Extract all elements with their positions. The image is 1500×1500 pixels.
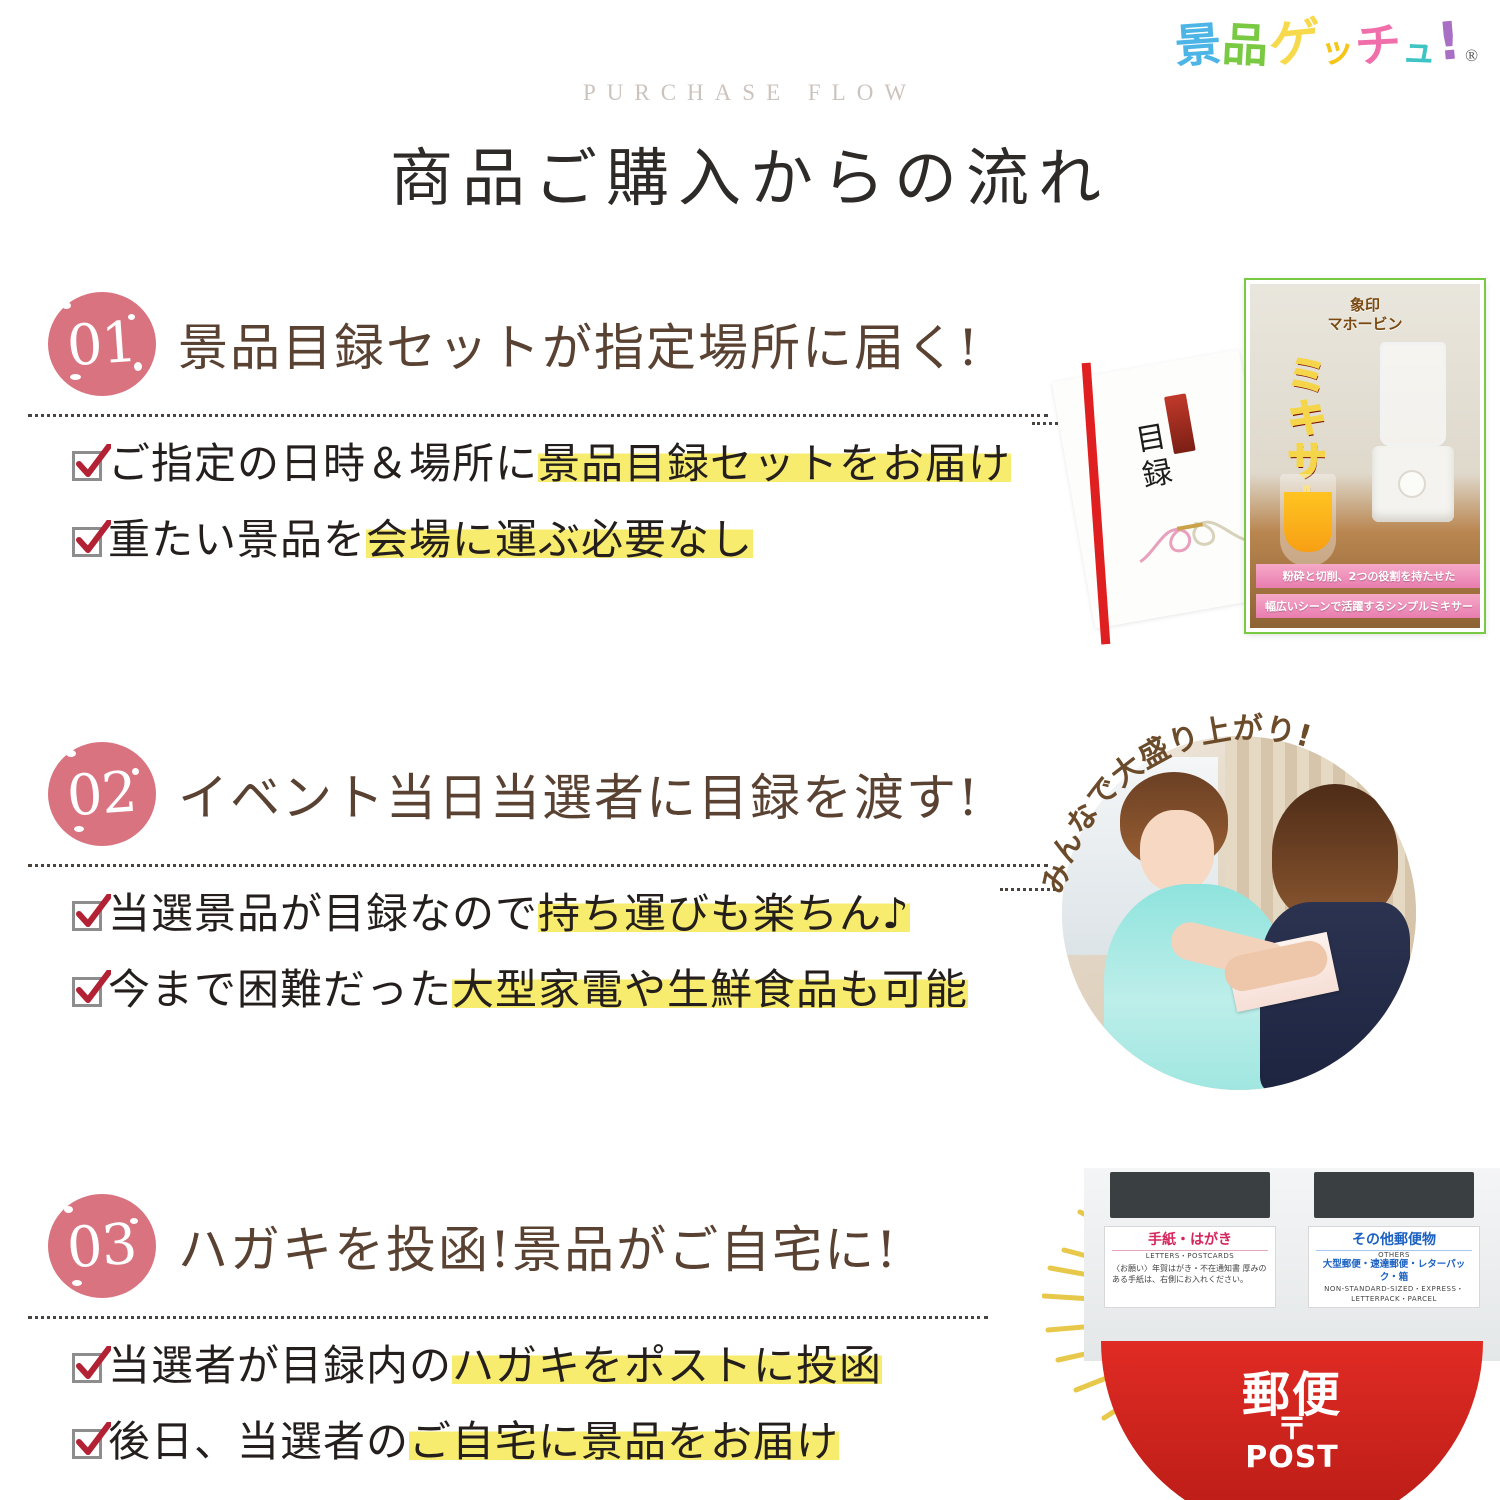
- bullet-highlight: ハガキをポストに投函: [452, 1341, 882, 1390]
- plate-right-en: OTHERS: [1316, 1251, 1472, 1259]
- prize-poster: 象印 マホービン ミキサー 粉砕と切削、2つの役割を持たせた 幅広いシーンで活躍…: [1246, 280, 1484, 632]
- logo-char-ge: ゲ: [1269, 15, 1320, 71]
- step-01-title: 景品目録セットが指定場所に届く!: [178, 308, 980, 380]
- arc-caption-text: みんなで大盛り上がり!: [1042, 711, 1316, 897]
- poster-brand-line2: マホービン: [1327, 315, 1402, 333]
- bullet-highlight: 会場に運ぶ必要なし: [366, 515, 753, 564]
- bullet-text: 当選者が目録内のハガキをポストに投函: [108, 1341, 882, 1391]
- checkbox-checked-icon: [70, 1349, 108, 1387]
- checkbox-checked-icon: [70, 523, 108, 561]
- brand-logo[interactable]: 景 品 ゲ ッ チ ュ ! ®: [1175, 16, 1478, 68]
- bullet-plain: 今まで困難だった: [108, 965, 452, 1014]
- logo-char-kei: 景: [1174, 20, 1223, 69]
- poster-ribbon-1: 粉砕と切削、2つの役割を持たせた: [1256, 564, 1482, 588]
- bullet-highlight: ご自宅に景品をお届け: [409, 1417, 839, 1466]
- plate-right-note: 大型郵便・速達郵便・レターパック・箱: [1316, 1259, 1472, 1284]
- logo-char-yu: ュ: [1402, 33, 1437, 68]
- checkbox-checked-icon: [70, 897, 108, 935]
- postbox-plate-letters: 手紙・はがき LETTERS・POSTCARDS 〈お願い〉年賀はがき・不在通知…: [1104, 1226, 1276, 1308]
- bullet-plain: 重たい景品を: [108, 515, 366, 564]
- bullet-highlight: 大型家電や生鮮食品も可能: [452, 965, 968, 1014]
- registered-trademark-icon: ®: [1465, 47, 1478, 64]
- bullet-highlight: 景品目録セットをお届け: [538, 439, 1011, 488]
- checkbox-checked-icon: [70, 1425, 108, 1463]
- bullet-highlight: 持ち運びも楽ちん♪: [538, 889, 910, 938]
- checkbox-checked-icon: [70, 973, 108, 1011]
- step-02-number-badge: 02: [40, 738, 164, 850]
- plate-left-title: 手紙・はがき: [1112, 1233, 1268, 1251]
- svg-text:みんなで大盛り上がり!: みんなで大盛り上がり!: [1042, 711, 1316, 897]
- bullet-text: 後日、当選者のご自宅に景品をお届け: [108, 1417, 839, 1467]
- plate-right-title: その他郵便物: [1316, 1233, 1472, 1251]
- logo-char-exclamation: !: [1435, 15, 1463, 69]
- catalog-set-illustration: 目録 象印 マホービン ミキサー 粉砕と切削、2つの役割を持たせた 幅広いシーン…: [1062, 272, 1492, 652]
- juice-glass-icon: [1280, 474, 1336, 566]
- badge-speck: [62, 302, 71, 309]
- step-01-number: 01: [65, 309, 139, 379]
- poster-brand-line1: 象印: [1350, 296, 1380, 314]
- postbox-illustration: 手紙・はがき LETTERS・POSTCARDS 〈お願い〉年賀はがき・不在通知…: [1060, 1148, 1500, 1500]
- postbox-slot-left: [1110, 1172, 1270, 1218]
- blender-icon: [1366, 342, 1462, 522]
- badge-speck: [66, 750, 76, 757]
- poster-ribbon-2: 幅広いシーンで活躍するシンプルミキサー: [1256, 594, 1482, 618]
- bullet-plain: 後日、当選者の: [108, 1417, 409, 1466]
- poster-brand: 象印 マホービン: [1250, 296, 1480, 334]
- postbox-mark: 郵便 〒 POST: [1101, 1371, 1484, 1473]
- page-title: 商品ご購入からの流れ: [0, 128, 1500, 219]
- bullet-text: 今まで困難だった大型家電や生鮮食品も可能: [108, 965, 968, 1015]
- eyebrow-label: PURCHASE FLOW: [0, 80, 1500, 106]
- bullet-plain: 当選景品が目録なので: [108, 889, 538, 938]
- logo-char-chi: チ: [1354, 21, 1402, 69]
- step-02-title: イベント当日当選者に目録を渡す!: [178, 758, 980, 830]
- plate-left-note: 〈お願い〉年賀はがき・不在通知書 厚みのある手紙は、右側にお入れください。: [1112, 1264, 1268, 1286]
- checkbox-checked-icon: [70, 447, 108, 485]
- plate-left-en: LETTERS・POSTCARDS: [1112, 1251, 1268, 1261]
- envelope-red-stripe: [1082, 363, 1111, 645]
- step-02-divider: [28, 864, 1048, 867]
- bullet-plain: ご指定の日時＆場所に: [108, 439, 538, 488]
- plate-right-en2: NON-STANDARD-SIZED・EXPRESS・LETTERPACK・PA…: [1316, 1284, 1472, 1304]
- logo-char-tsu: ッ: [1319, 33, 1355, 69]
- step-03-number: 03: [65, 1211, 139, 1281]
- bullet-text: 当選景品が目録なので持ち運びも楽ちん♪: [108, 889, 910, 939]
- postbox-plate-others: その他郵便物 OTHERS 大型郵便・速達郵便・レターパック・箱 NON-STA…: [1308, 1226, 1480, 1308]
- bullet-text: ご指定の日時＆場所に景品目録セットをお届け: [108, 439, 1011, 489]
- step-02-number: 02: [65, 759, 139, 829]
- step-01-number-badge: 01: [40, 288, 164, 400]
- mizuhiki-ribbon-icon: [1127, 489, 1254, 571]
- postbox-post-label: POST: [1101, 1443, 1484, 1473]
- arc-caption: みんなで大盛り上がり!: [1042, 686, 1442, 956]
- postbox-red-base: 郵便 〒 POST: [1101, 1341, 1484, 1500]
- step-03-title: ハガキを投函!景品がご自宅に!: [178, 1210, 898, 1282]
- badge-speck: [64, 1206, 73, 1213]
- step-03-number-badge: 03: [40, 1190, 164, 1302]
- step-01-divider: [28, 414, 1048, 417]
- logo-char-hin: 品: [1221, 21, 1269, 69]
- postbox-slot-right: [1314, 1172, 1474, 1218]
- bullet-plain: 当選者が目録内の: [108, 1341, 452, 1390]
- step-03-divider: [28, 1316, 988, 1319]
- postbox-photo: 手紙・はがき LETTERS・POSTCARDS 〈お願い〉年賀はがき・不在通知…: [1084, 1168, 1500, 1500]
- event-photo-illustration: みんなで大盛り上がり!: [1042, 718, 1442, 1118]
- bullet-text: 重たい景品を会場に運ぶ必要なし: [108, 515, 753, 565]
